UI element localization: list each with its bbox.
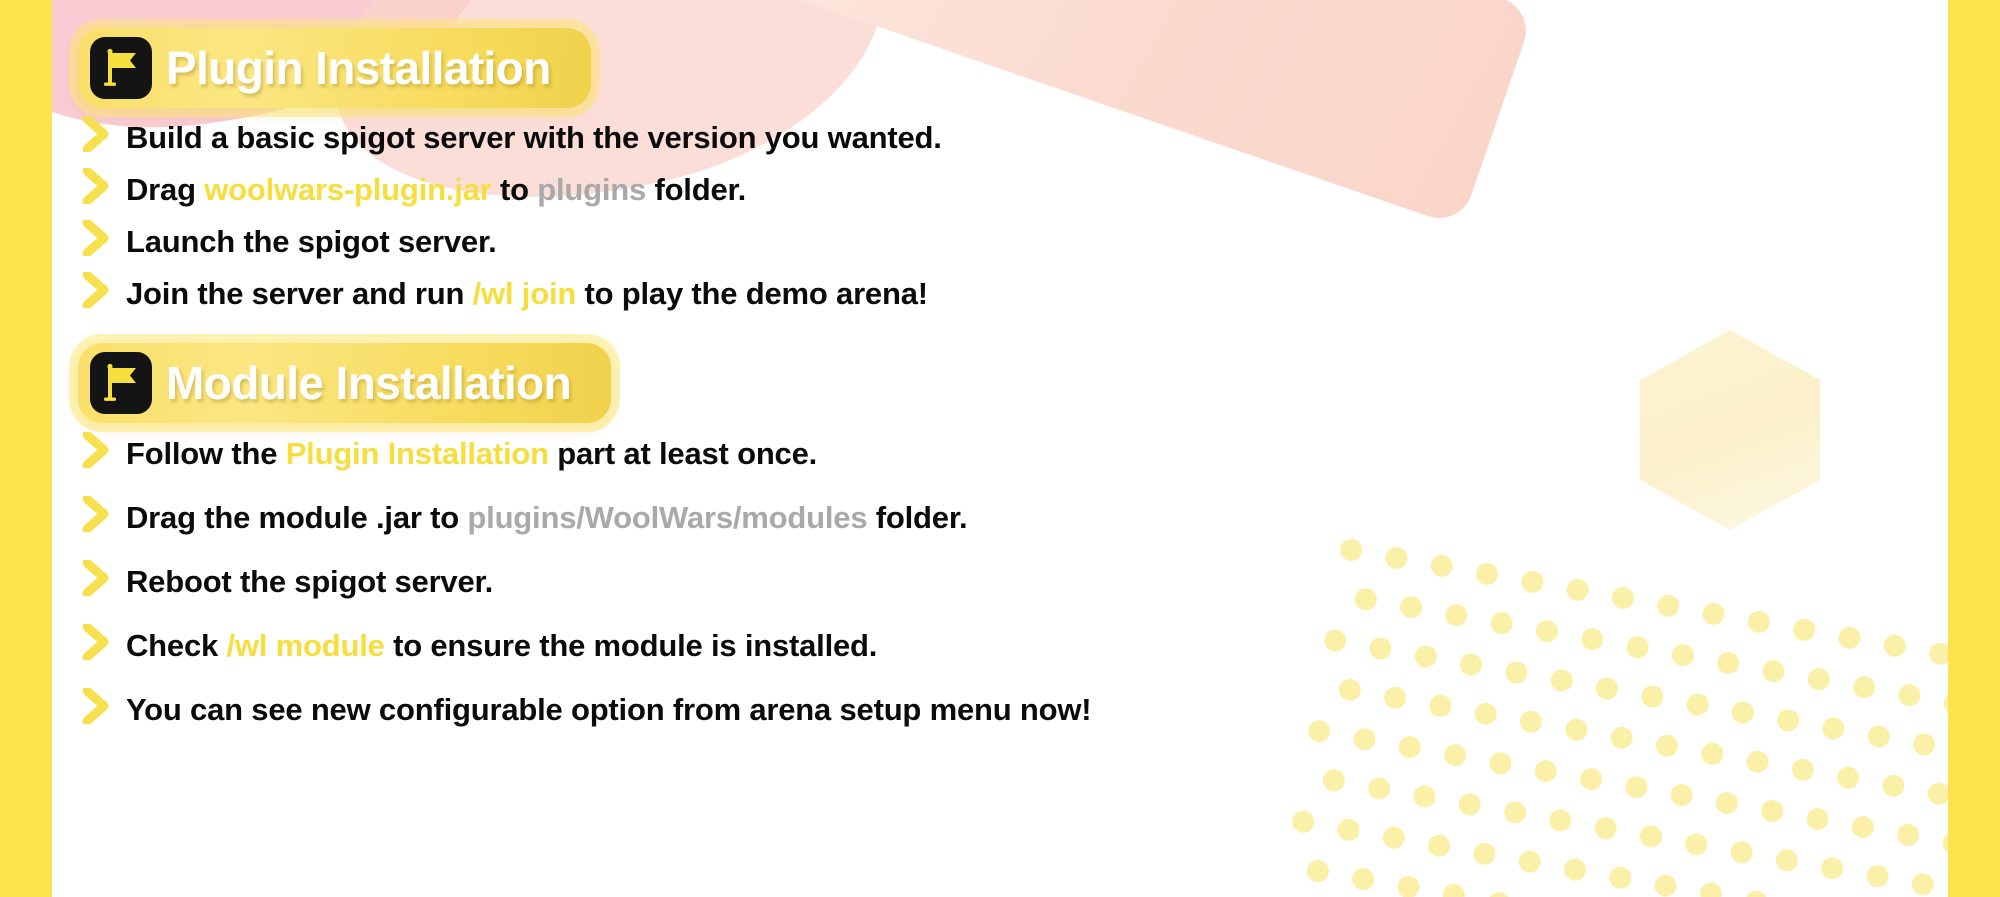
- text-fragment: Launch the spigot server.: [126, 224, 497, 259]
- list-item-text: Drag the module .jar to plugins/WoolWars…: [126, 502, 967, 533]
- text-fragment: plugins: [537, 172, 646, 207]
- text-fragment: to play the demo arena!: [576, 276, 928, 311]
- list-item-text: Reboot the spigot server.: [126, 566, 493, 597]
- chevron-right-icon: [82, 688, 112, 724]
- list-item-text: You can see new configurable option from…: [126, 694, 1091, 725]
- section-header-plugin-installation: Plugin Installation: [78, 28, 591, 108]
- text-fragment: folder.: [646, 172, 746, 207]
- list-item: Launch the spigot server.: [82, 216, 942, 257]
- section-title: Module Installation: [166, 359, 571, 408]
- chevron-right-icon: [82, 624, 112, 660]
- section-header-module-installation: Module Installation: [78, 343, 611, 423]
- chevron-right-icon: [82, 560, 112, 596]
- text-fragment: Join the server and run: [126, 276, 473, 311]
- text-fragment: Drag the module .jar to: [126, 500, 467, 535]
- text-fragment: plugins/WoolWars/modules: [467, 500, 867, 535]
- right-yellow-bar: [1948, 0, 2000, 897]
- chevron-right-icon: [82, 168, 112, 204]
- list-item: You can see new configurable option from…: [82, 684, 1091, 725]
- left-yellow-bar: [0, 0, 52, 897]
- section-title: Plugin Installation: [166, 44, 551, 93]
- section-badge: Plugin Installation: [78, 28, 591, 108]
- text-fragment: part at least once.: [549, 436, 817, 471]
- list-item-text: Follow the Plugin Installation part at l…: [126, 438, 817, 469]
- list-item: Join the server and run /wl join to play…: [82, 268, 942, 309]
- text-fragment: Follow the: [126, 436, 286, 471]
- text-fragment: /wl module: [226, 628, 384, 663]
- flag-icon: [90, 37, 152, 99]
- list-item-text: Drag woolwars-plugin.jar to plugins fold…: [126, 174, 746, 205]
- text-fragment: to ensure the module is installed.: [385, 628, 878, 663]
- section-badge: Module Installation: [78, 343, 611, 423]
- list-item: Drag woolwars-plugin.jar to plugins fold…: [82, 164, 942, 205]
- list-item: Build a basic spigot server with the ver…: [82, 112, 942, 153]
- chevron-right-icon: [82, 220, 112, 256]
- content-area: Plugin InstallationBuild a basic spigot …: [52, 0, 1948, 897]
- list-item: Reboot the spigot server.: [82, 556, 1091, 597]
- list-item-text: Join the server and run /wl join to play…: [126, 278, 928, 309]
- flag-icon: [90, 352, 152, 414]
- text-fragment: /wl join: [473, 276, 576, 311]
- text-fragment: Build a basic spigot server with the ver…: [126, 120, 942, 155]
- text-fragment: Plugin Installation: [286, 436, 549, 471]
- list-item-text: Check /wl module to ensure the module is…: [126, 630, 877, 661]
- list-item: Check /wl module to ensure the module is…: [82, 620, 1091, 661]
- text-fragment: Reboot the spigot server.: [126, 564, 493, 599]
- chevron-right-icon: [82, 272, 112, 308]
- chevron-right-icon: [82, 432, 112, 468]
- text-fragment: Drag: [126, 172, 204, 207]
- text-fragment: Check: [126, 628, 226, 663]
- instruction-list-plugin-installation: Build a basic spigot server with the ver…: [82, 112, 942, 320]
- list-item-text: Build a basic spigot server with the ver…: [126, 122, 942, 153]
- text-fragment: woolwars-plugin.jar: [204, 172, 491, 207]
- page-root: Plugin InstallationBuild a basic spigot …: [0, 0, 2000, 897]
- instruction-list-module-installation: Follow the Plugin Installation part at l…: [82, 428, 1091, 748]
- text-fragment: folder.: [867, 500, 967, 535]
- chevron-right-icon: [82, 116, 112, 152]
- chevron-right-icon: [82, 496, 112, 532]
- list-item: Follow the Plugin Installation part at l…: [82, 428, 1091, 469]
- list-item: Drag the module .jar to plugins/WoolWars…: [82, 492, 1091, 533]
- list-item-text: Launch the spigot server.: [126, 226, 497, 257]
- text-fragment: You can see new configurable option from…: [126, 692, 1091, 727]
- text-fragment: to: [492, 172, 538, 207]
